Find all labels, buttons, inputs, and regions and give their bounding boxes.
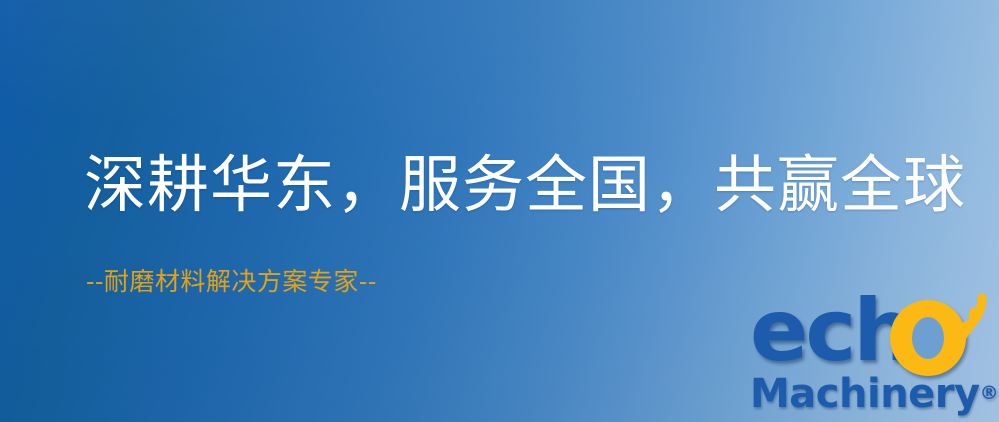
logo-tagline: Machinery®: [750, 374, 999, 414]
logo-echo-letters: ech: [750, 288, 912, 374]
logo-wordmark: ech: [748, 294, 999, 374]
banner-headline: 深耕华东，服务全国，共赢全球: [84, 152, 966, 219]
registered-trademark-icon: ®: [980, 382, 999, 404]
logo-tagline-text: Machinery: [750, 371, 980, 417]
logo-o-counter-shape: [912, 317, 944, 359]
banner-subtitle: --耐磨材料解决方案专家--: [86, 268, 377, 296]
signal-waves-icon: [944, 288, 999, 350]
echo-machinery-logo: ech Machinery®: [748, 294, 999, 422]
promo-banner: 深耕华东，服务全国，共赢全球 --耐磨材料解决方案专家-- ech Ma: [0, 0, 999, 422]
